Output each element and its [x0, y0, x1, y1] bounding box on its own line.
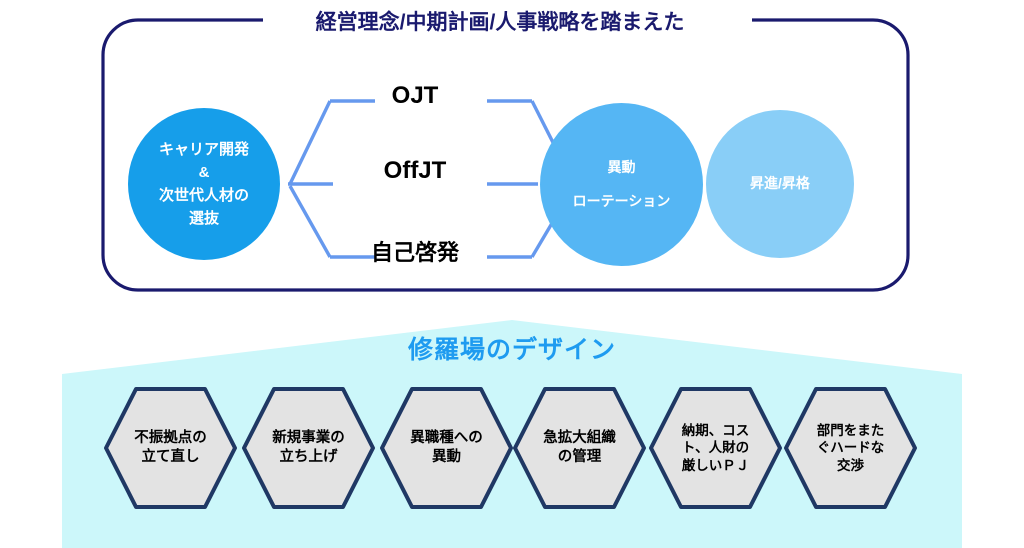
circle-rotation-line2: ローテーション: [573, 191, 671, 213]
circle-promotion[interactable]: 昇進/昇格: [706, 110, 854, 258]
circle-career-line1: キャリア開発: [159, 138, 249, 161]
circle-career-line2: &: [199, 161, 210, 184]
circle-career-line3: 次世代人材の: [159, 184, 249, 207]
circle-career-development[interactable]: キャリア開発 & 次世代人材の 選抜: [128, 108, 280, 260]
diagram-canvas: 経営理念/中期計画/人事戦略を踏まえた キャリア開発 & 次世代人材の 選抜 O…: [0, 0, 1024, 548]
hexagon-1[interactable]: 不振拠点の 立て直し: [103, 386, 238, 510]
hexagon-5[interactable]: 納期、コス ト、人財の 厳しいＰＪ: [648, 386, 783, 510]
top-group-title: 経営理念/中期計画/人事戦略を踏まえた: [270, 6, 730, 36]
circle-rotation[interactable]: 異動 ローテーション: [540, 103, 703, 266]
circle-career-line4: 選抜: [189, 207, 219, 230]
hexagon-3[interactable]: 異職種への 異動: [379, 386, 514, 510]
hexagon-6[interactable]: 部門をまた ぐハードな 交渉: [783, 386, 918, 510]
middle-item-offjt[interactable]: OffJT: [335, 157, 495, 185]
bottom-banner-title: 修羅場のデザイン: [0, 330, 1024, 366]
hexagon-2[interactable]: 新規事業の 立ち上げ: [241, 386, 376, 510]
circle-promotion-line1: 昇進/昇格: [750, 173, 810, 195]
circle-rotation-line1: 異動: [608, 157, 636, 179]
hexagon-4[interactable]: 急拡大組織 の管理: [512, 386, 647, 510]
middle-item-self-development[interactable]: 自己啓発: [335, 235, 495, 267]
middle-item-ojt[interactable]: OJT: [335, 82, 495, 110]
